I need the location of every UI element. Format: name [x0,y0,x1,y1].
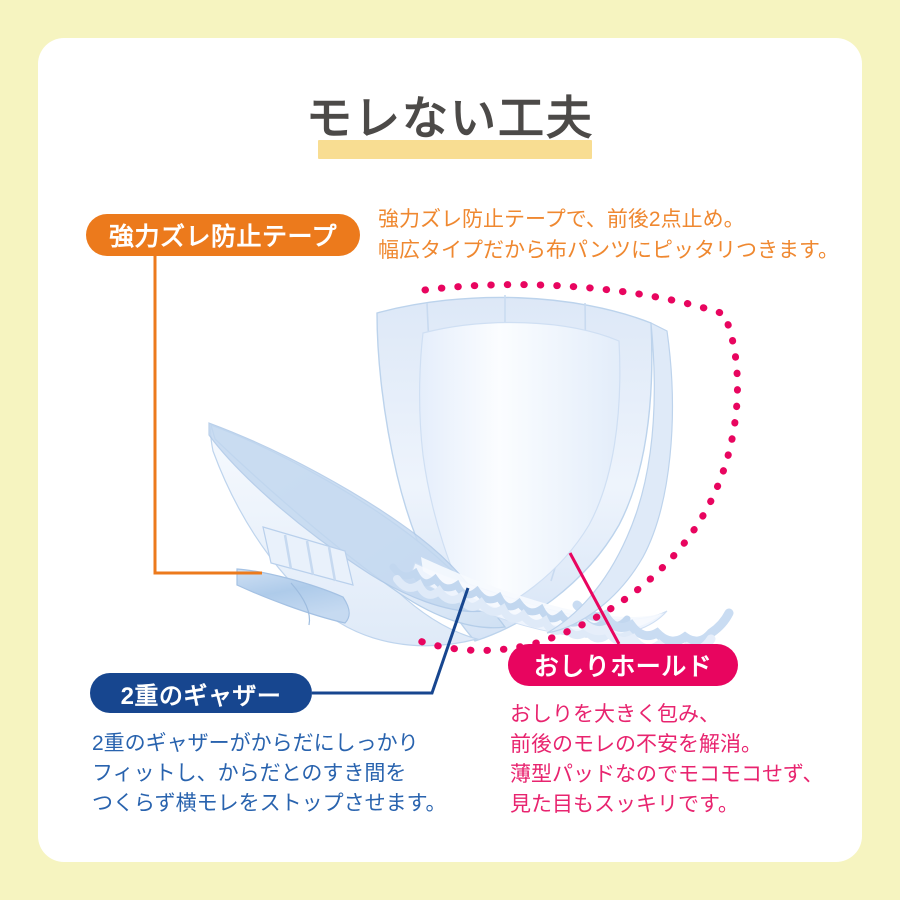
product-illustration [175,275,735,655]
poster-canvas: モレない工夫 [0,0,900,900]
callout-body-tape: 強力ズレ防止テープで、前後2点止め。 幅広タイプだから布パンツにピッタリつきます… [378,204,839,266]
callout-body-gather: 2重のギャザーがからだにしっかり フィットし、からだとのすき間を つくらず横モレ… [92,729,446,819]
page-title: モレない工夫 [0,95,900,141]
callout-label-tape[interactable]: 強力ズレ防止テープ [86,214,360,256]
callout-label-gather[interactable]: 2重のギャザー [90,673,312,713]
title-text: モレない工夫 [306,95,594,141]
callout-label-hold[interactable]: おしりホールド [508,644,738,686]
callout-body-hold: おしりを大きく包み、 前後のモレの不安を解消。 薄型パッドなのでモコモコせず、 … [510,700,824,820]
